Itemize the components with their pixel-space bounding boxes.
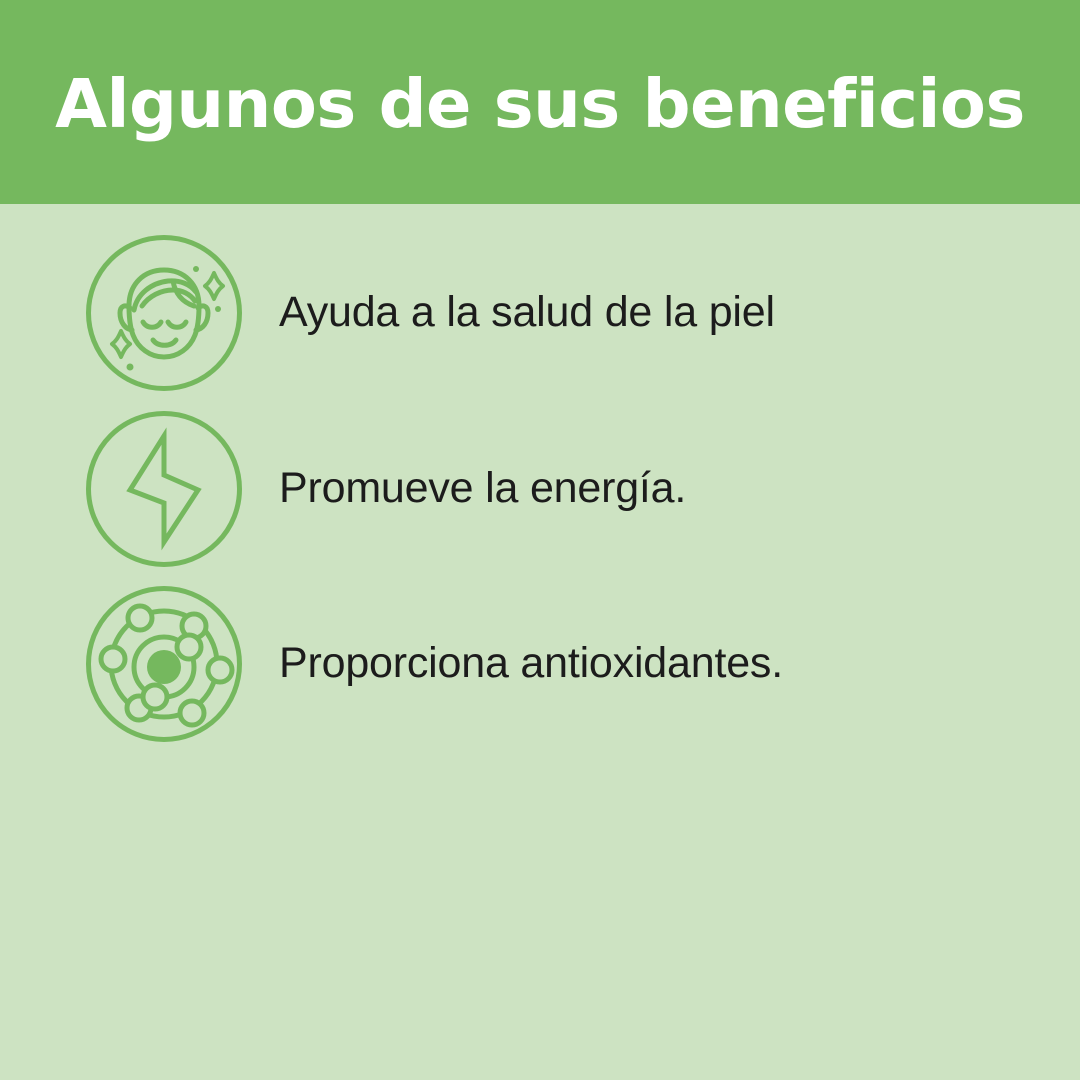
list-item-label: Ayuda a la salud de la piel [279,287,1005,339]
header-band: Algunos de sus beneficios [0,0,1080,204]
list-item-label: Promueve la energía. [279,463,1005,515]
list-item: Ayuda a la salud de la piel [85,234,1005,392]
list-item: Proporciona antioxidantes. [85,585,1005,743]
lightning-bolt-icon [85,410,243,568]
page-title: Algunos de sus beneficios [15,71,1065,138]
benefits-poster: Algunos de sus beneficios [0,0,1080,1080]
list-item-label: Proporciona antioxidantes. [279,638,1005,690]
face-skin-sparkle-icon [85,234,243,392]
list-item: Promueve la energía. [85,410,1005,568]
atom-molecule-icon [85,585,243,743]
